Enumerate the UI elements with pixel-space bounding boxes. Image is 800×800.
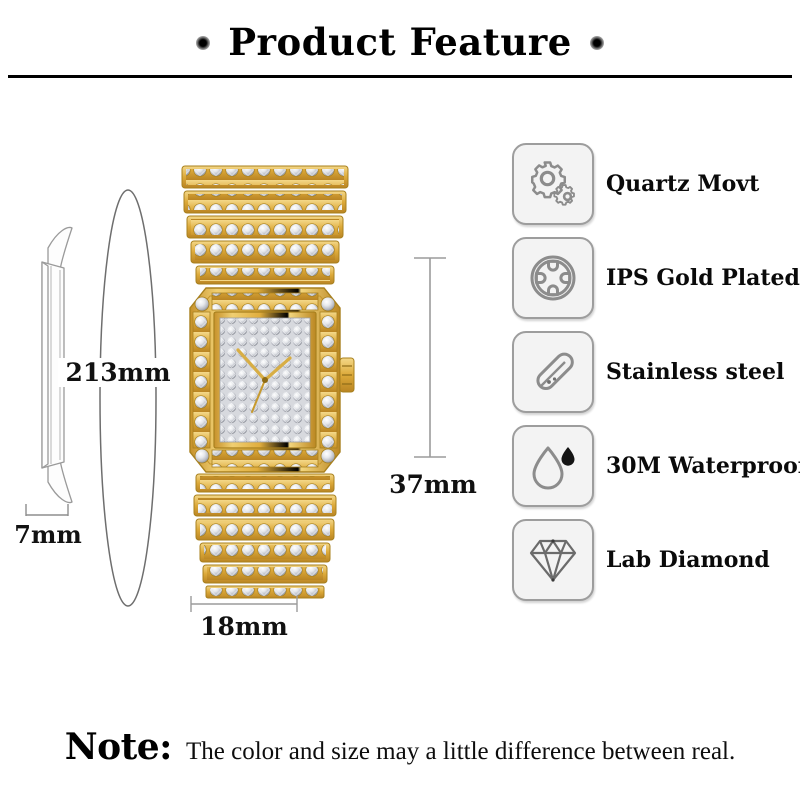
steel-bar-icon: [512, 331, 594, 413]
feature-item-quartz-movt: Quartz Movt: [512, 145, 800, 223]
feature-label-lab-diamond: Lab Diamond: [606, 549, 770, 571]
band-length-ellipse: [88, 186, 168, 616]
feature-label-stainless-steel: Stainless steel: [606, 361, 784, 383]
feature-label-quartz-movt: Quartz Movt: [606, 173, 759, 195]
watch-crown: [340, 358, 354, 392]
watch-case: [190, 288, 354, 472]
gears-icon: [512, 143, 594, 225]
feature-label-ips-gold-plated: IPS Gold Plated: [606, 267, 800, 289]
decorative-dot-right-icon: [590, 36, 604, 50]
page-header: Product Feature: [0, 24, 800, 61]
note-label: Note:: [65, 726, 172, 768]
note-row: Note: The color and size may a little di…: [0, 726, 800, 768]
upper-bracelet: [182, 166, 348, 284]
header-divider: [8, 75, 792, 78]
page-title: Product Feature: [228, 24, 572, 61]
decorative-dot-left-icon: [196, 36, 210, 50]
feature-label-waterproof: 30M Waterproof: [606, 455, 800, 477]
infographic-canvas: Product Feature 7mm: [0, 0, 800, 800]
feature-item-lab-diamond: Lab Diamond: [512, 521, 800, 599]
note-text: The color and size may a little differen…: [186, 738, 735, 766]
case-height-label: 37mm: [385, 470, 481, 499]
case-height-dimension-line: [410, 255, 450, 465]
thickness-dimension-label: 7mm: [8, 520, 88, 549]
watch-dial: [220, 318, 310, 442]
plating-icon: [512, 237, 594, 319]
band-width-label: 18mm: [188, 612, 300, 641]
feature-item-waterproof: 30M Waterproof: [512, 427, 800, 505]
lower-bracelet: [194, 474, 336, 598]
feature-item-stainless-steel: Stainless steel: [512, 333, 800, 411]
feature-list: Quartz Movt IPS Gold Plated: [512, 145, 800, 599]
diamond-icon: [512, 519, 594, 601]
water-drop-icon: [512, 425, 594, 507]
feature-item-ips-gold-plated: IPS Gold Plated: [512, 239, 800, 317]
watch-product-image: [160, 160, 370, 605]
